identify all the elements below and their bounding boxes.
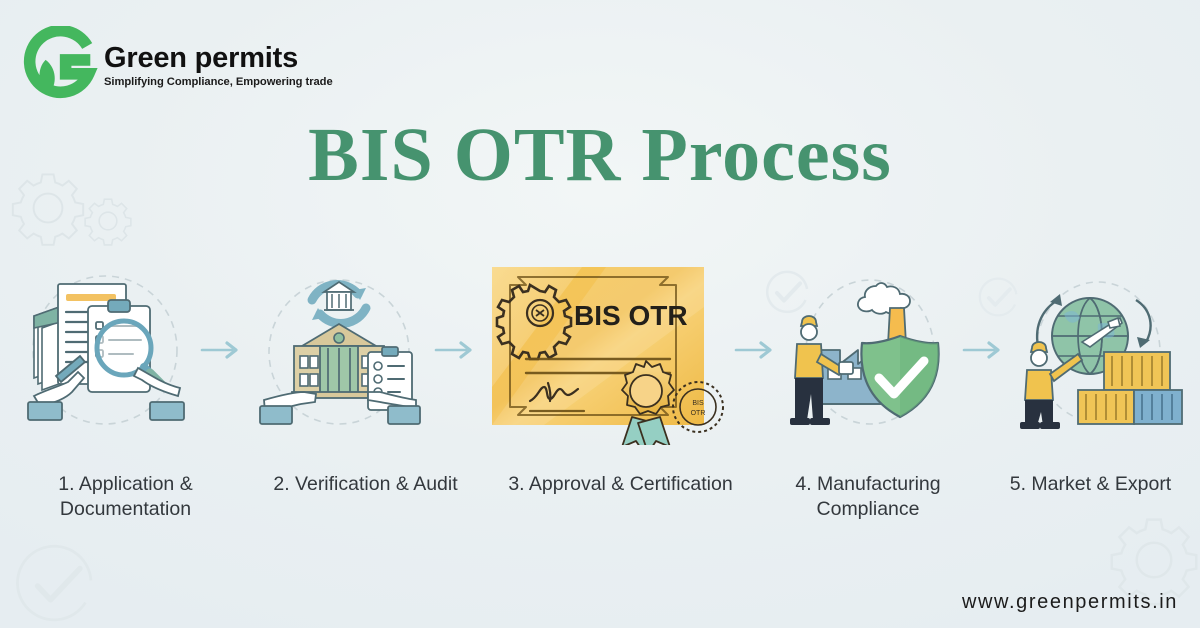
globe-shipping-containers-icon	[1012, 264, 1184, 436]
step-3-label-line1: 3. Approval & Certification	[488, 472, 753, 497]
certificate-icon: BIS OTR	[486, 255, 726, 445]
step-2-label-line1: 2. Verification & Audit	[243, 472, 488, 497]
right-arrow-icon	[962, 340, 1006, 360]
step-4-label-line1: 4. Manufacturing	[753, 472, 983, 497]
brand-tagline: Simplifying Compliance, Empowering trade	[104, 76, 333, 88]
step-1-illustration	[16, 264, 194, 436]
right-arrow-icon	[200, 340, 244, 360]
banner-root: Green permits Simplifying Compliance, Em…	[0, 0, 1200, 628]
website-url[interactable]: www.greenpermits.in	[962, 591, 1178, 614]
connector-arrow-4	[956, 340, 1012, 360]
step-2-illustration	[250, 264, 428, 436]
step-2-label: 2. Verification & Audit	[243, 472, 488, 497]
gear-outline-icon	[82, 195, 134, 247]
step-4-illustration	[784, 264, 956, 436]
government-building-checklist-icon	[250, 264, 428, 436]
connector-arrow-2	[428, 340, 484, 360]
step-5-illustration	[1012, 264, 1184, 436]
step-1-label: 1. Application & Documentation	[8, 472, 243, 522]
step-1-label-line2: Documentation	[8, 497, 243, 522]
process-steps: BIS OTR	[0, 250, 1200, 450]
green-g-leaf-logo-icon	[22, 26, 100, 100]
right-arrow-icon	[734, 340, 778, 360]
documents-clipboard-magnifier-icon	[16, 264, 194, 436]
connector-arrow-3	[728, 340, 784, 360]
brand-logo[interactable]: Green permits Simplifying Compliance, Em…	[22, 24, 333, 102]
svg-text:BIS: BIS	[692, 400, 704, 407]
right-arrow-icon	[434, 340, 478, 360]
brand-name: Green permits	[104, 44, 333, 74]
step-3-label: 3. Approval & Certification	[488, 472, 753, 497]
check-circle-outline-icon	[10, 540, 102, 628]
step-5-label: 5. Market & Export	[983, 472, 1198, 497]
step-3-illustration: BIS OTR	[486, 255, 726, 445]
factory-shield-check-icon	[784, 264, 956, 436]
step-labels-row: 1. Application & Documentation 2. Verifi…	[0, 472, 1200, 522]
step-4-label-line2: Compliance	[753, 497, 983, 522]
award-rosette-icon	[622, 361, 674, 445]
step-4-label: 4. Manufacturing Compliance	[753, 472, 983, 522]
step-5-label-line1: 5. Market & Export	[983, 472, 1198, 497]
page-title: BIS OTR Process	[0, 117, 1200, 193]
connector-arrow-1	[194, 340, 250, 360]
svg-text:OTR: OTR	[691, 410, 706, 417]
certificate-heading: BIS OTR	[574, 300, 688, 331]
step-1-label-line1: 1. Application &	[8, 472, 243, 497]
